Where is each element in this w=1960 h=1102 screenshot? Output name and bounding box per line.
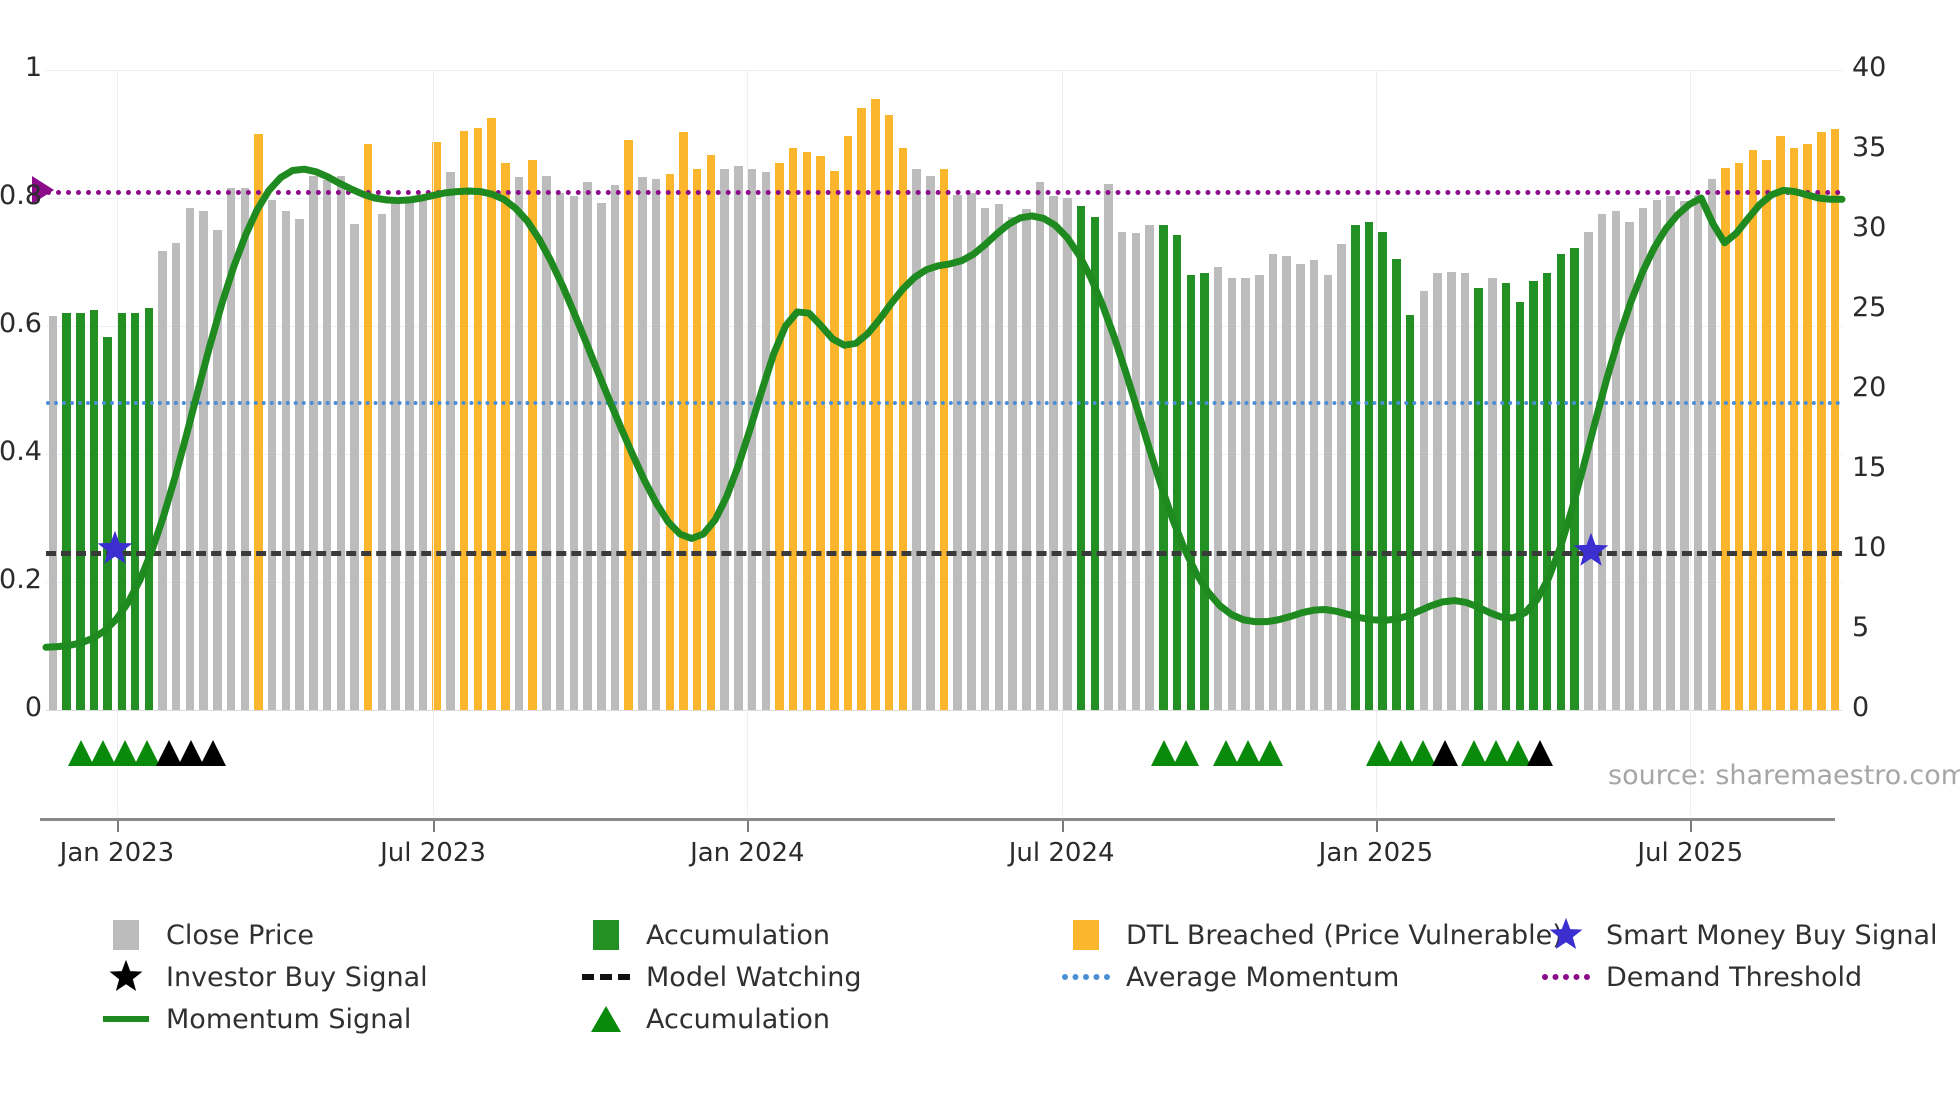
legend-label: Investor Buy Signal — [166, 962, 428, 993]
legend-swatch-square-icon — [113, 920, 139, 950]
legend-dashed-line-icon — [582, 974, 630, 980]
y-axis-right-tick: 0 — [1852, 694, 1869, 721]
investor-buy-signal-triangle-icon — [1527, 740, 1553, 766]
y-axis-right-tick: 5 — [1852, 614, 1869, 641]
legend-swatch — [1060, 974, 1112, 980]
accumulation-marker-group — [1366, 740, 1454, 766]
legend-swatch — [1060, 920, 1112, 950]
legend-item-smart-money-buy-signal[interactable]: Smart Money Buy Signal — [1540, 915, 1938, 955]
y-axis-left-tick: 0.4 — [0, 438, 42, 465]
accumulation-marker-group — [1213, 740, 1279, 766]
x-axis-line — [40, 818, 1835, 821]
legend-swatch — [580, 974, 632, 980]
smart-money-buy-signal-marker-icon — [96, 530, 134, 568]
legend-swatch-square-icon — [593, 920, 619, 950]
gridline-y — [46, 710, 1842, 711]
y-axis-left-tick: 0.6 — [0, 310, 42, 337]
x-axis-tick-label: Jul 2024 — [1009, 838, 1115, 868]
legend-label: Accumulation — [646, 1004, 830, 1035]
legend-item-accumulation-triangle[interactable]: Accumulation — [580, 999, 830, 1039]
legend-item-average-momentum[interactable]: Average Momentum — [1060, 957, 1399, 997]
y-axis-left-tick: 1 — [25, 54, 42, 81]
legend-item-momentum-signal[interactable]: Momentum Signal — [100, 999, 411, 1039]
legend-swatch — [580, 920, 632, 950]
legend-swatch — [100, 920, 152, 950]
legend-label: Average Momentum — [1126, 962, 1399, 993]
accumulation-marker-group — [68, 740, 222, 766]
investor-buy-signal-triangle-icon — [200, 740, 226, 766]
legend-label: Model Watching — [646, 962, 861, 993]
legend-star-icon — [108, 959, 144, 995]
chart-canvas: 00.20.40.60.810510152025303540 source: s… — [0, 0, 1960, 1102]
x-axis-tick-label: Jan 2024 — [690, 838, 805, 868]
chart-legend: Close PriceAccumulationDTL Breached (Pri… — [100, 915, 1890, 1041]
accumulation-triangle-icon — [1173, 740, 1199, 766]
momentum-signal-curve — [46, 70, 1842, 710]
y-axis-right-tick: 35 — [1852, 134, 1886, 161]
y-axis-right-tick: 15 — [1852, 454, 1886, 481]
legend-item-dtl-breached[interactable]: DTL Breached (Price Vulnerable) — [1060, 915, 1563, 955]
legend-swatch — [1540, 974, 1592, 980]
plot-inner — [46, 70, 1842, 710]
legend-dotted-line-icon — [1062, 974, 1110, 980]
smart-money-buy-signal-marker-icon — [1572, 532, 1610, 570]
legend-label: Momentum Signal — [166, 1004, 411, 1035]
source-credit: source: sharemaestro.com — [1608, 760, 1960, 791]
legend-label: Accumulation — [646, 920, 830, 951]
y-axis-right-tick: 20 — [1852, 374, 1886, 401]
y-axis-left-tick: 0.2 — [0, 566, 42, 593]
legend-line-icon — [103, 1016, 149, 1022]
accumulation-triangle-icon — [1257, 740, 1283, 766]
legend-swatch — [580, 1006, 632, 1032]
y-axis-left-tick: 0.8 — [0, 182, 42, 209]
legend-swatch-square-icon — [1073, 920, 1099, 950]
x-axis-tick-mark — [747, 821, 749, 832]
legend-star-icon — [1548, 917, 1584, 953]
investor-buy-signal-triangle-icon — [1432, 740, 1458, 766]
legend-item-investor-buy-signal[interactable]: Investor Buy Signal — [100, 957, 428, 997]
legend-item-close-price[interactable]: Close Price — [100, 915, 314, 955]
legend-swatch — [1540, 917, 1592, 953]
legend-label: Demand Threshold — [1606, 962, 1862, 993]
legend-swatch — [100, 959, 152, 995]
legend-label: Close Price — [166, 920, 314, 951]
x-axis-tick-label: Jan 2025 — [1319, 838, 1434, 868]
x-axis-tick-mark — [433, 821, 435, 832]
legend-item-accumulation-bar[interactable]: Accumulation — [580, 915, 830, 955]
legend-row: Close PriceAccumulationDTL Breached (Pri… — [100, 915, 1890, 955]
legend-triangle-icon — [591, 1006, 621, 1032]
y-axis-right-tick: 40 — [1852, 54, 1886, 81]
y-axis-right-tick: 10 — [1852, 534, 1886, 561]
x-axis-tick-label: Jul 2025 — [1637, 838, 1743, 868]
legend-row: Momentum SignalAccumulation — [100, 999, 1890, 1039]
x-axis-tick-label: Jan 2023 — [60, 838, 175, 868]
x-axis-tick-mark — [1376, 821, 1378, 832]
x-axis-tick-label: Jul 2023 — [380, 838, 486, 868]
legend-dotted-line-icon — [1542, 974, 1590, 980]
x-axis-tick-mark — [1690, 821, 1692, 832]
x-axis-tick-mark — [1062, 821, 1064, 832]
x-axis-tick-mark — [117, 821, 119, 832]
legend-item-demand-threshold[interactable]: Demand Threshold — [1540, 957, 1862, 997]
legend-row: Investor Buy SignalModel WatchingAverage… — [100, 957, 1890, 997]
y-axis-right-tick: 25 — [1852, 294, 1886, 321]
y-axis-left-tick: 0 — [25, 694, 42, 721]
legend-swatch — [100, 1016, 152, 1022]
plot-area — [46, 70, 1842, 710]
accumulation-marker-group — [1151, 740, 1195, 766]
legend-label: Smart Money Buy Signal — [1606, 920, 1938, 951]
legend-label: DTL Breached (Price Vulnerable) — [1126, 920, 1563, 951]
legend-item-model-watching[interactable]: Model Watching — [580, 957, 861, 997]
y-axis-right-tick: 30 — [1852, 214, 1886, 241]
accumulation-marker-group — [1461, 740, 1549, 766]
